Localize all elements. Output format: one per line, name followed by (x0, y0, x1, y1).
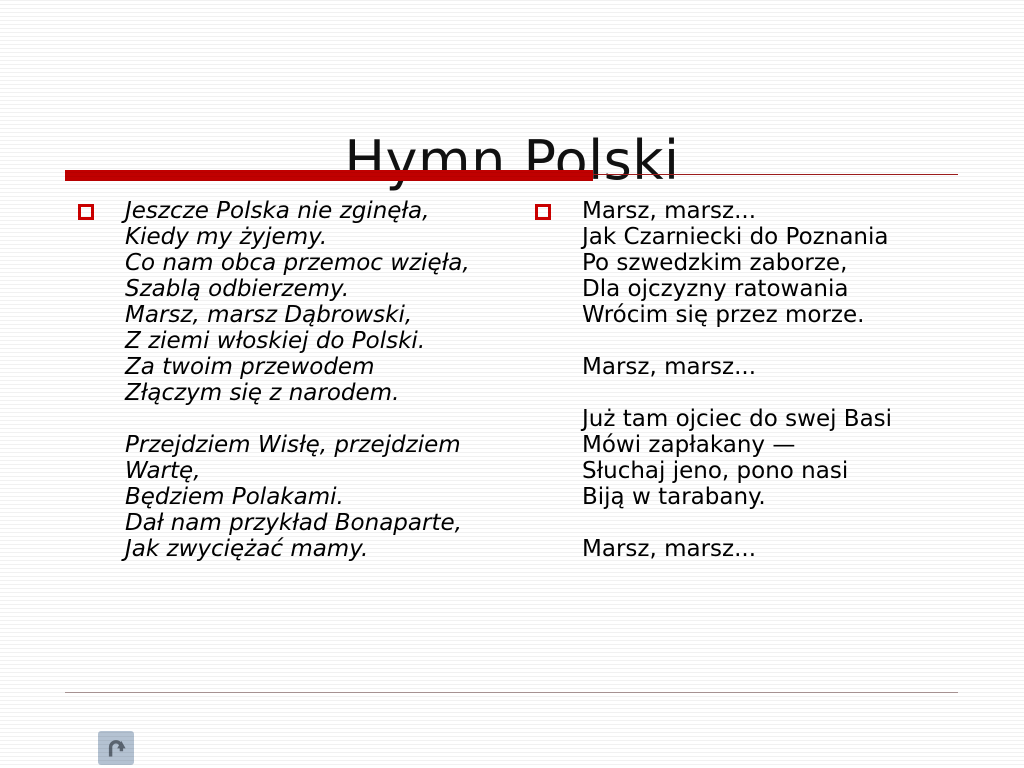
right-stanza-1: Marsz, marsz... (582, 198, 971, 224)
title-underline-thin (593, 174, 958, 175)
slide-canvas: Hymn Polski Jeszcze Polska nie zginęła, … (0, 0, 1024, 768)
left-column-bullet-row: Jeszcze Polska nie zginęła, Kiedy my żyj… (74, 198, 529, 302)
right-stanza-5: Marsz, marsz... (531, 536, 971, 562)
square-bullet-icon (78, 204, 94, 220)
right-column-bullet-row: Marsz, marsz... (531, 198, 971, 224)
left-stanza-3: Przejdziem Wisłę, przejdziem Wartę, Będz… (74, 432, 529, 562)
right-column: Marsz, marsz... Jak Czarniecki do Poznan… (531, 198, 971, 562)
return-button[interactable] (98, 731, 134, 765)
page-title: Hymn Polski (0, 131, 1024, 191)
right-stanza-4: Już tam ojciec do swej Basi Mówi zapłaka… (531, 406, 971, 510)
right-stanza-2: Jak Czarniecki do Poznania Po szwedzkim … (531, 224, 971, 328)
footer-divider (65, 692, 958, 693)
left-stanza-1: Jeszcze Polska nie zginęła, Kiedy my żyj… (125, 198, 529, 302)
u-turn-arrow-icon (104, 736, 128, 760)
left-stanza-2: Marsz, marsz Dąbrowski, Z ziemi włoskiej… (74, 302, 529, 406)
title-underline-thick (65, 170, 593, 181)
right-stanza-3: Marsz, marsz... (531, 354, 971, 380)
square-bullet-icon (535, 204, 551, 220)
left-column: Jeszcze Polska nie zginęła, Kiedy my żyj… (74, 198, 529, 562)
title-underline (65, 170, 958, 182)
